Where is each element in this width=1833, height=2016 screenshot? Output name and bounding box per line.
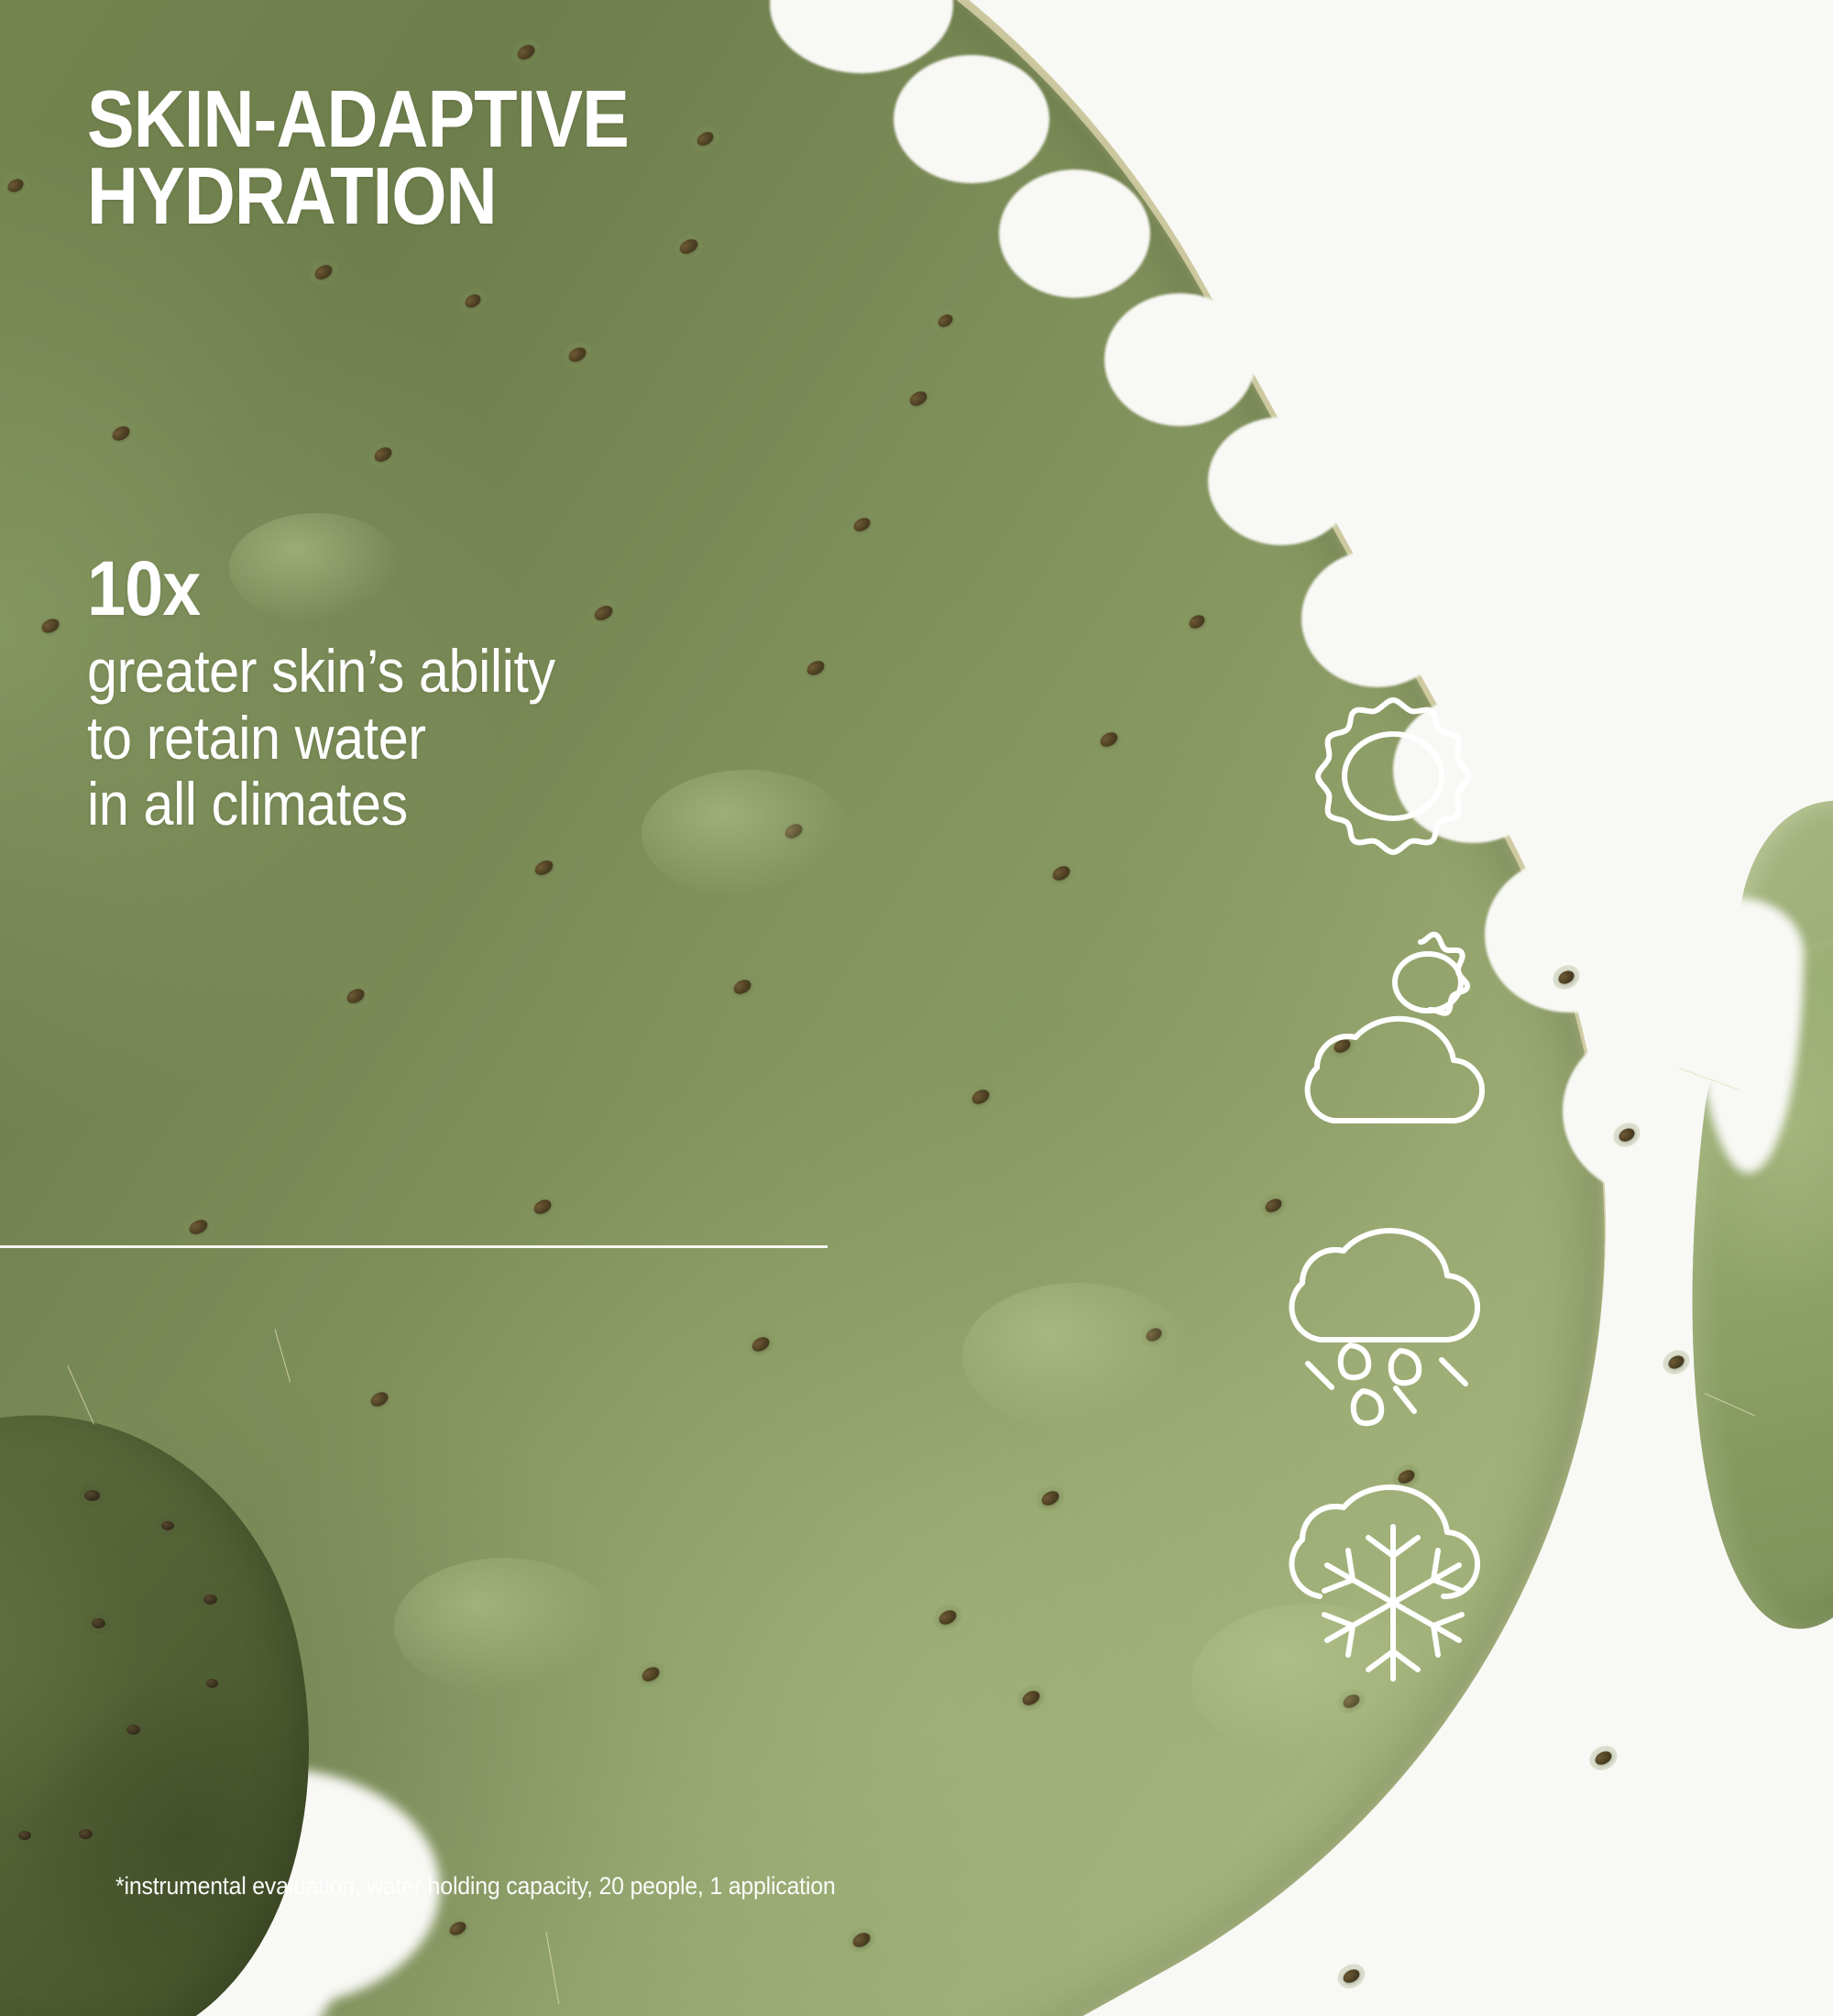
cactus-areole (79, 1829, 93, 1839)
cactus-areole (1341, 1967, 1362, 1985)
pad-edge-notch (1104, 293, 1256, 426)
climate-icon-item (1279, 1175, 1508, 1422)
cactus-areole (203, 1594, 217, 1605)
footnote: *instrumental evaluation, water holding … (115, 1872, 835, 1901)
climate-icon-item (1279, 1439, 1508, 1686)
climate-icon-item (1279, 687, 1508, 898)
cactus-areole (92, 1618, 105, 1628)
cactus-areole (206, 1679, 218, 1688)
cactus-areole (161, 1521, 174, 1530)
sun-icon (1279, 687, 1508, 898)
climate-icon-list (1279, 687, 1517, 1686)
cactus-surface-bump (962, 1283, 1191, 1430)
claim-block: 10x greater skin’s ability to retain wat… (87, 550, 784, 838)
footnote-asterisk: * (115, 1872, 124, 1900)
pad-edge-notch (1208, 417, 1355, 545)
claim-number: 10x (87, 550, 714, 627)
pad-edge-notch (894, 55, 1049, 183)
poster-canvas: SKIN-ADAPTIVE HYDRATION 10x greater skin… (0, 0, 1833, 2016)
page-title: SKIN-ADAPTIVE HYDRATION (87, 81, 716, 236)
pad-edge-notch (999, 170, 1150, 298)
pad-edge-notch (1301, 550, 1453, 687)
cloud-sun-icon (1279, 926, 1508, 1136)
claim-description: greater skin’s ability to retain water i… (87, 638, 714, 838)
cactus-areole (18, 1831, 31, 1840)
cactus-areole (1593, 1748, 1614, 1767)
cactus-photo (0, 0, 1833, 2016)
climate-icon-item (1279, 926, 1508, 1155)
cactus-areole (84, 1490, 100, 1501)
cloud-rain-icon (1279, 1175, 1508, 1422)
cactus-areole (126, 1725, 140, 1735)
footnote-text: instrumental evaluation, water holding c… (124, 1872, 835, 1900)
cloud-snowflake-icon (1279, 1439, 1508, 1686)
cactus-surface-bump (394, 1558, 614, 1695)
divider-rule (0, 1245, 828, 1248)
